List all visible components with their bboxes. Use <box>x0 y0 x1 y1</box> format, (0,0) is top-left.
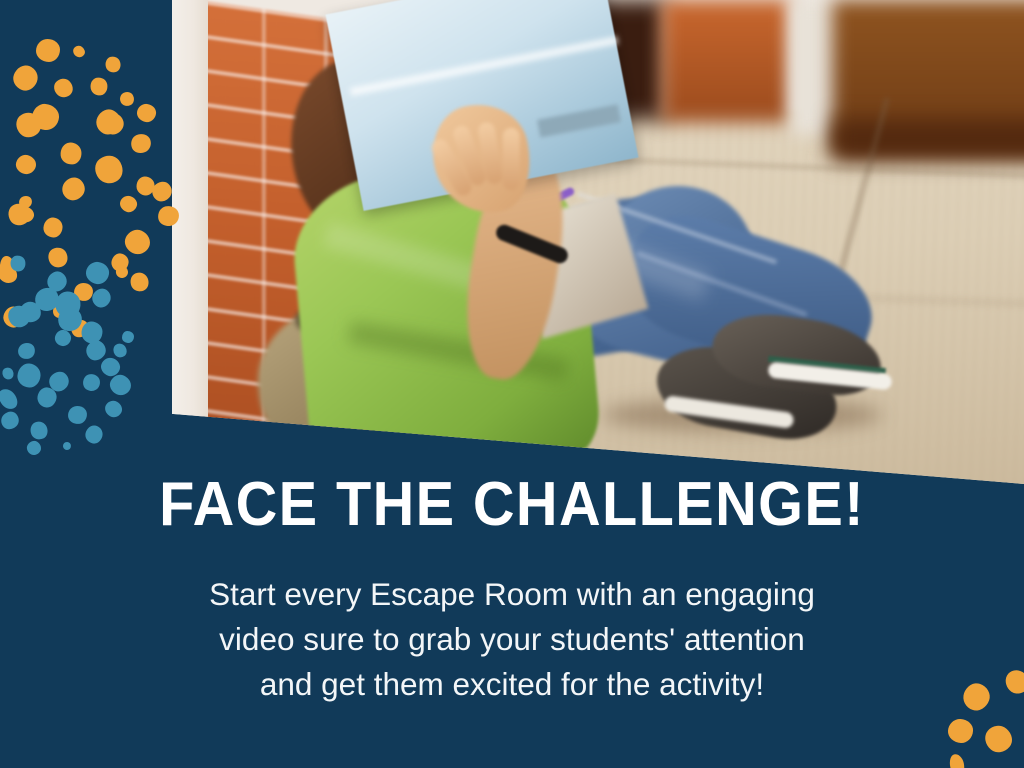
confetti-dot-orange <box>14 153 38 177</box>
photo-background-wood-panel-1 <box>662 0 790 122</box>
confetti-dot-teal <box>55 304 86 334</box>
confetti-dot-orange <box>118 90 137 109</box>
confetti-dot-orange <box>59 141 82 165</box>
confetti-dot-teal <box>28 419 51 442</box>
confetti-dot-orange <box>50 75 76 101</box>
confetti-dot-orange <box>73 282 94 302</box>
photo-finger-4 <box>503 128 520 190</box>
confetti-dot-teal <box>98 355 122 378</box>
confetti-dot-teal <box>16 341 37 361</box>
confetti-dot-teal <box>45 368 72 396</box>
confetti-dot-orange <box>948 753 967 768</box>
confetti-dot-orange <box>136 102 158 123</box>
subtitle-line-2: video sure to grab your students' attent… <box>0 617 1024 662</box>
confetti-dot-teal <box>36 386 58 409</box>
confetti-dot-teal <box>24 438 43 457</box>
confetti-dot-orange <box>89 76 109 97</box>
confetti-dot-orange <box>110 252 130 272</box>
confetti-dot-teal <box>44 268 70 294</box>
confetti-dot-teal <box>84 260 110 286</box>
page-title: FACE THE CHALLENGE! <box>36 474 988 536</box>
confetti-dot-teal <box>107 371 134 398</box>
confetti-dot-teal <box>81 321 102 343</box>
confetti-dot-teal <box>102 398 125 420</box>
poster-canvas: FACE THE CHALLENGE! Start every Escape R… <box>0 0 1024 768</box>
confetti-dot-teal <box>67 405 88 425</box>
confetti-dot-orange <box>121 226 154 258</box>
hero-photo <box>172 0 1024 484</box>
confetti-dot-orange <box>36 39 60 62</box>
confetti-dot-orange <box>31 103 60 131</box>
confetti-dot-orange <box>118 194 139 215</box>
confetti-dot-orange <box>51 303 67 319</box>
confetti-dot-orange <box>15 204 36 225</box>
confetti-dot-orange <box>71 43 87 59</box>
confetti-dot-teal <box>89 285 114 311</box>
confetti-dot-teal <box>82 337 109 364</box>
confetti-dot-orange <box>4 200 34 230</box>
confetti-dot-orange <box>0 259 21 287</box>
confetti-dot-teal <box>0 385 21 412</box>
confetti-dot-teal <box>16 298 45 327</box>
confetti-dot-orange <box>148 178 175 206</box>
confetti-dot-orange <box>128 270 152 295</box>
confetti-dot-orange <box>90 150 129 189</box>
subtitle-line-3: and get them excited for the activity! <box>0 662 1024 707</box>
confetti-dot-teal <box>0 408 22 433</box>
confetti-dot-orange <box>1 304 25 329</box>
confetti-dot-orange <box>45 244 71 271</box>
confetti-dot-orange <box>13 75 25 87</box>
confetti-dot-orange <box>68 316 93 341</box>
confetti-dot-orange <box>947 718 973 743</box>
photo-background-column <box>790 0 836 135</box>
subtitle-text: Start every Escape Room with an engaging… <box>0 572 1024 707</box>
confetti-dot-teal <box>84 424 105 446</box>
confetti-dot-teal <box>0 366 15 382</box>
confetti-dot-orange <box>114 264 131 281</box>
confetti-dot-teal <box>31 284 63 315</box>
confetti-dot-orange <box>128 131 154 156</box>
confetti-dot-orange <box>10 62 41 94</box>
confetti-dot-teal <box>17 363 42 389</box>
confetti-dot-orange <box>11 108 46 143</box>
photo-left-matte-border <box>172 0 208 484</box>
confetti-dot-teal <box>9 254 27 273</box>
confetti-dot-orange <box>92 106 125 139</box>
confetti-dot-teal <box>54 290 82 318</box>
confetti-dot-teal <box>53 328 73 348</box>
confetti-dot-orange <box>980 720 1017 757</box>
confetti-dot-teal <box>81 372 101 392</box>
confetti-dot-orange <box>18 194 34 209</box>
confetti-dot-orange <box>43 217 63 238</box>
confetti-dot-teal <box>111 341 130 360</box>
subtitle-line-1: Start every Escape Room with an engaging <box>0 572 1024 617</box>
confetti-dot-orange <box>104 55 123 75</box>
confetti-dot-teal <box>62 441 72 451</box>
confetti-dot-teal <box>122 331 134 343</box>
confetti-dot-orange <box>58 173 89 205</box>
confetti-dot-teal <box>4 301 34 331</box>
confetti-dot-orange <box>100 110 128 138</box>
confetti-dot-orange <box>136 176 154 195</box>
photo-background-wood-shadow <box>832 120 1024 160</box>
confetti-dot-orange <box>0 256 14 276</box>
